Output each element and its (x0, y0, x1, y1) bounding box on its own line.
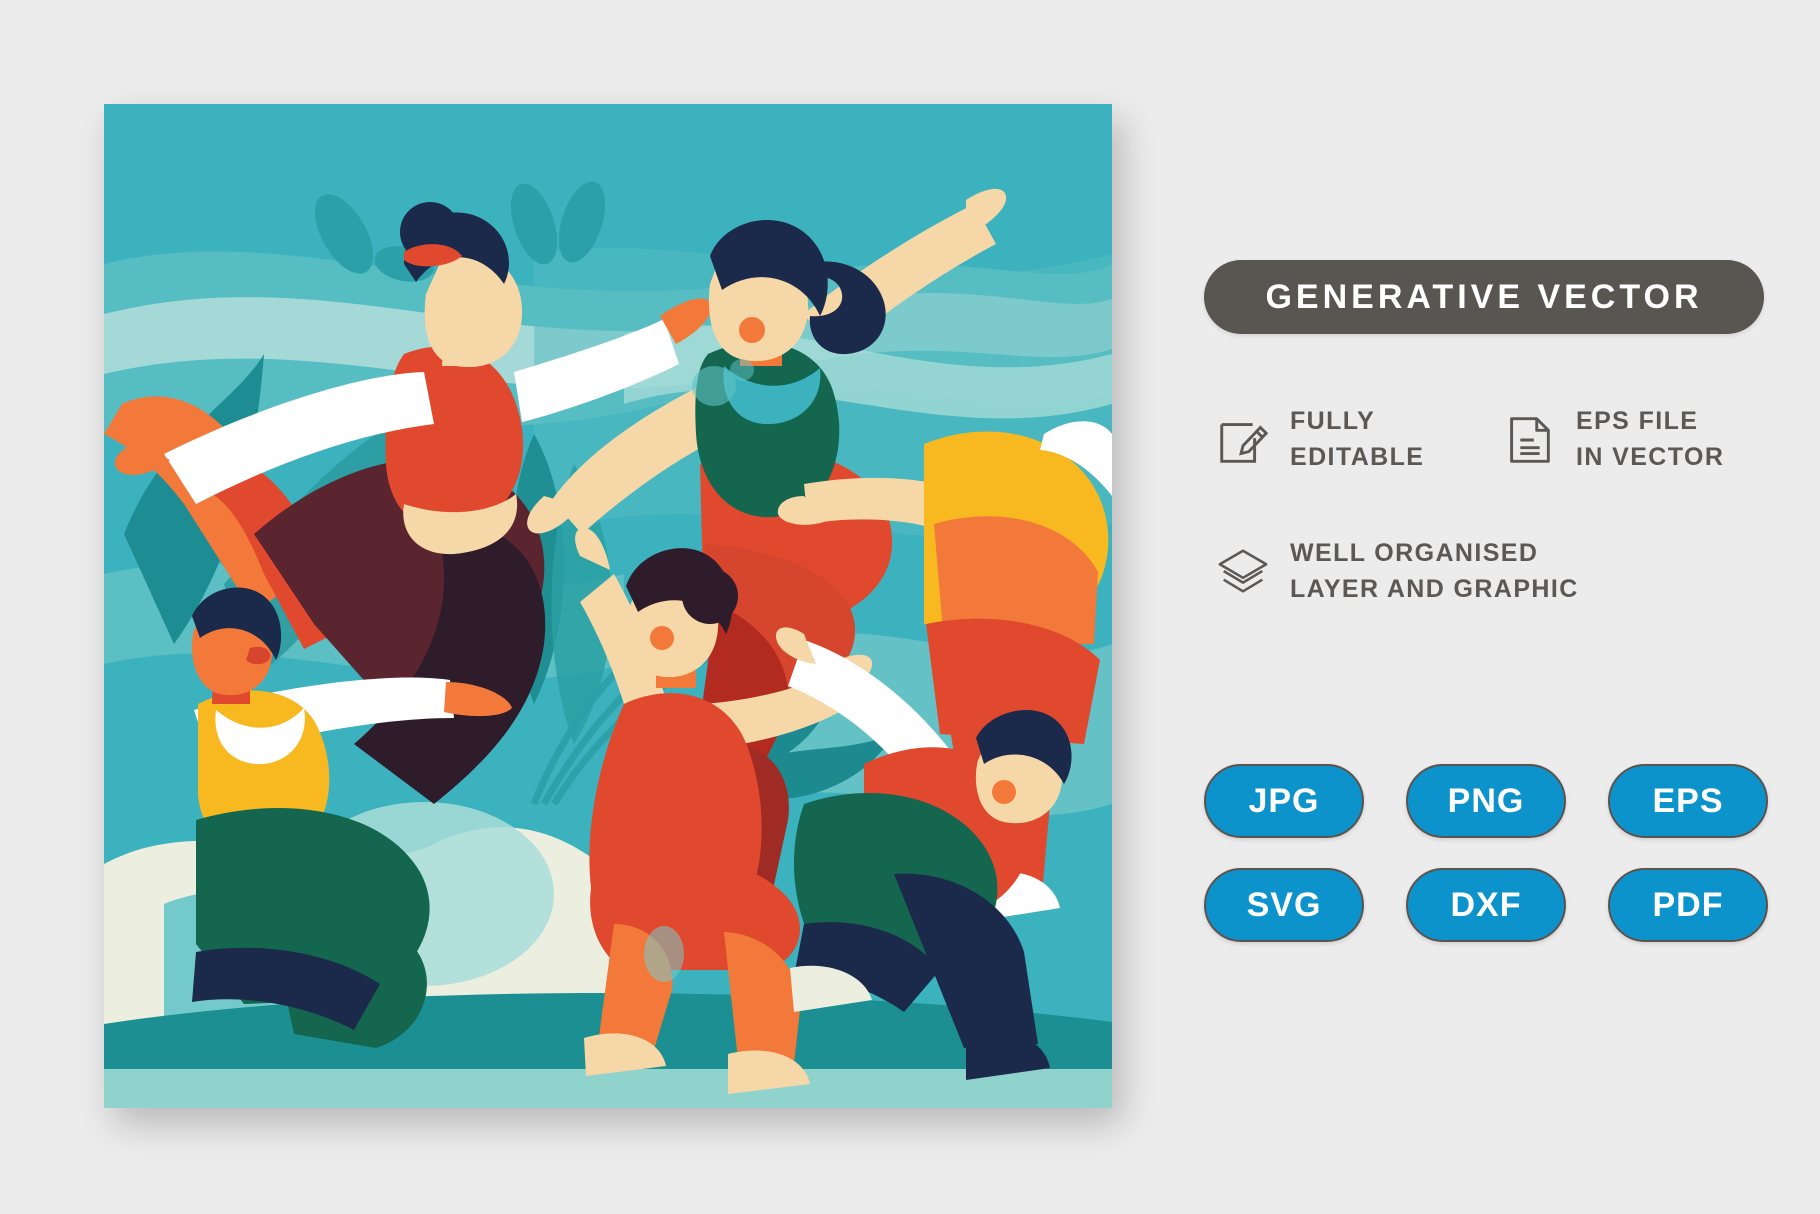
format-button-label: EPS (1652, 782, 1723, 821)
layers-icon (1214, 543, 1272, 601)
feature-well-organised: WELL ORGANISED LAYER AND GRAPHIC (1214, 536, 1579, 607)
file-format-buttons: JPG PNG EPS SVG DXF PDF (1204, 764, 1770, 972)
format-button-label: PDF (1653, 886, 1724, 925)
format-button-label: SVG (1247, 886, 1322, 925)
format-button-svg[interactable]: SVG (1204, 868, 1364, 942)
preview-card[interactable] (104, 104, 1112, 1108)
feature-line-2: LAYER AND GRAPHIC (1290, 575, 1579, 603)
info-panel: GENERATIVE VECTOR FULLY EDITABLE EPS FIL… (1180, 104, 1780, 1108)
feature-line-1: WELL ORGANISED (1290, 539, 1538, 567)
format-button-label: PNG (1448, 782, 1525, 821)
feature-fully-editable: FULLY EDITABLE (1214, 404, 1424, 475)
feature-fully-editable-label: FULLY EDITABLE (1290, 404, 1424, 475)
format-button-eps[interactable]: EPS (1608, 764, 1768, 838)
format-button-label: JPG (1248, 782, 1319, 821)
format-button-dxf[interactable]: DXF (1406, 868, 1566, 942)
product-title-badge: GENERATIVE VECTOR (1204, 260, 1764, 334)
feature-line-2: IN VECTOR (1576, 443, 1724, 471)
feature-well-organised-label: WELL ORGANISED LAYER AND GRAPHIC (1290, 536, 1579, 607)
feature-eps-file: EPS FILE IN VECTOR (1500, 404, 1724, 475)
edit-document-icon (1214, 411, 1272, 469)
feature-line-1: EPS FILE (1576, 407, 1698, 435)
feature-line-1: FULLY (1290, 407, 1375, 435)
file-document-icon (1500, 411, 1558, 469)
format-button-jpg[interactable]: JPG (1204, 764, 1364, 838)
format-button-label: DXF (1451, 886, 1522, 925)
feature-eps-file-label: EPS FILE IN VECTOR (1576, 404, 1724, 475)
file-format-row-1: JPG PNG EPS (1204, 764, 1770, 838)
yoga-illustration (104, 104, 1112, 1108)
file-format-row-2: SVG DXF PDF (1204, 868, 1770, 942)
format-button-pdf[interactable]: PDF (1608, 868, 1768, 942)
feature-line-2: EDITABLE (1290, 443, 1424, 471)
format-button-png[interactable]: PNG (1406, 764, 1566, 838)
product-title: GENERATIVE VECTOR (1265, 278, 1702, 317)
